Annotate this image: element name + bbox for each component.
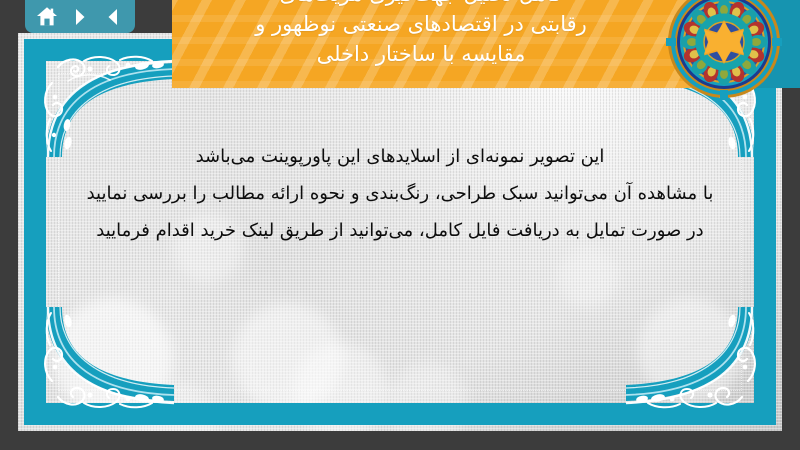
home-button[interactable] bbox=[34, 4, 60, 30]
slide-navigation-bar bbox=[25, 0, 135, 33]
body-line: این تصویر نمونه‌ای از اسلایدهای این پاور… bbox=[58, 138, 742, 175]
banner-body: کامل تحلیل جهت‌گیری مزیت‌های رقابتی در ا… bbox=[172, 0, 730, 88]
slide-canvas: این تصویر نمونه‌ای از اسلایدهای این پاور… bbox=[18, 33, 782, 431]
slide-viewer: این تصویر نمونه‌ای از اسلایدهای این پاور… bbox=[0, 0, 800, 450]
previous-slide-button[interactable] bbox=[100, 4, 126, 30]
bokeh-circle bbox=[293, 343, 388, 431]
home-icon bbox=[36, 6, 58, 27]
body-line: با مشاهده آن می‌توانید سبک طراحی، رنگ‌بن… bbox=[58, 175, 742, 212]
slide-body-text: این تصویر نمونه‌ای از اسلایدهای این پاور… bbox=[58, 138, 742, 249]
bokeh-circle bbox=[638, 298, 743, 403]
page-title: کامل تحلیل جهت‌گیری مزیت‌های رقابتی در ا… bbox=[172, 0, 730, 69]
banner-arrow-tip bbox=[730, 0, 800, 88]
body-line: در صورت تمایل به دریافت فایل کامل، می‌تو… bbox=[58, 212, 742, 249]
triangle-left-icon bbox=[103, 7, 123, 27]
triangle-right-icon bbox=[70, 7, 90, 27]
slide-title-banner: کامل تحلیل جهت‌گیری مزیت‌های رقابتی در ا… bbox=[172, 0, 800, 88]
bokeh-circle bbox=[558, 248, 618, 308]
next-slide-button[interactable] bbox=[67, 4, 93, 30]
